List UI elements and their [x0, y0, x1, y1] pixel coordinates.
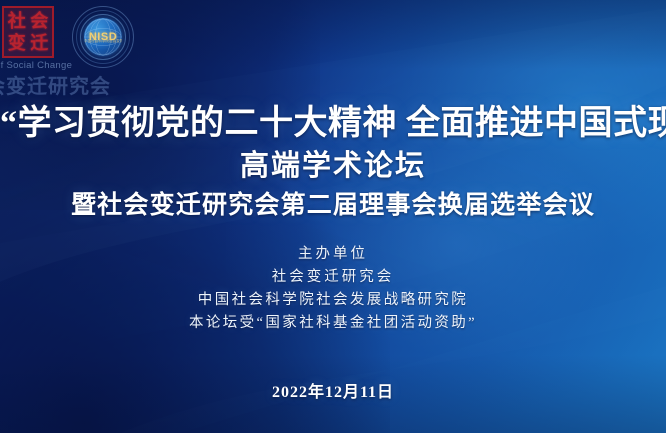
organizer-heading: 主办单位: [0, 243, 666, 266]
nisd-emblem: NISD 中国社会科学院社会发展战略研究院: [72, 6, 134, 68]
seal-chinese-label: 社会变迁研究会: [0, 70, 111, 99]
organizer-funding-note: 本论坛受“国家社科基金社团活动资助”: [0, 312, 666, 335]
conference-banner: 社 会 变 迁 ...my of Social Change 社会变迁研究会: [0, 0, 666, 433]
organizer-institute: 中国社会科学院社会发展战略研究院: [0, 289, 666, 312]
logo-row: 社 会 变 迁 ...my of Social Change 社会变迁研究会: [0, 0, 666, 92]
seal-icon: 社 会 变 迁: [2, 6, 54, 58]
seal-char-2: 会: [29, 10, 51, 32]
nisd-subtitle: 中国社会科学院社会发展战略研究院: [84, 38, 122, 43]
seal-char-4: 迁: [29, 33, 51, 55]
organizer-block: 主办单位 社会变迁研究会 中国社会科学院社会发展战略研究院 本论坛受“国家社科基…: [0, 243, 666, 335]
organizer-name: 社会变迁研究会: [0, 266, 666, 289]
title-line-3: 暨社会变迁研究会第二届理事会换届选举会议: [0, 191, 666, 221]
event-date: 2022年12月11日: [0, 378, 666, 402]
globe-icon: NISD 中国社会科学院社会发展战略研究院: [84, 18, 122, 56]
title-line-1: “学习贯彻党的二十大精神 全面推进中国式现代化”: [0, 104, 666, 144]
title-block: “学习贯彻党的二十大精神 全面推进中国式现代化” 高端学术论坛 暨社会变迁研究会…: [0, 104, 666, 221]
title-line-2: 高端学术论坛: [0, 149, 666, 184]
seal-char-1: 社: [6, 10, 28, 32]
seal-char-3: 变: [6, 33, 28, 55]
